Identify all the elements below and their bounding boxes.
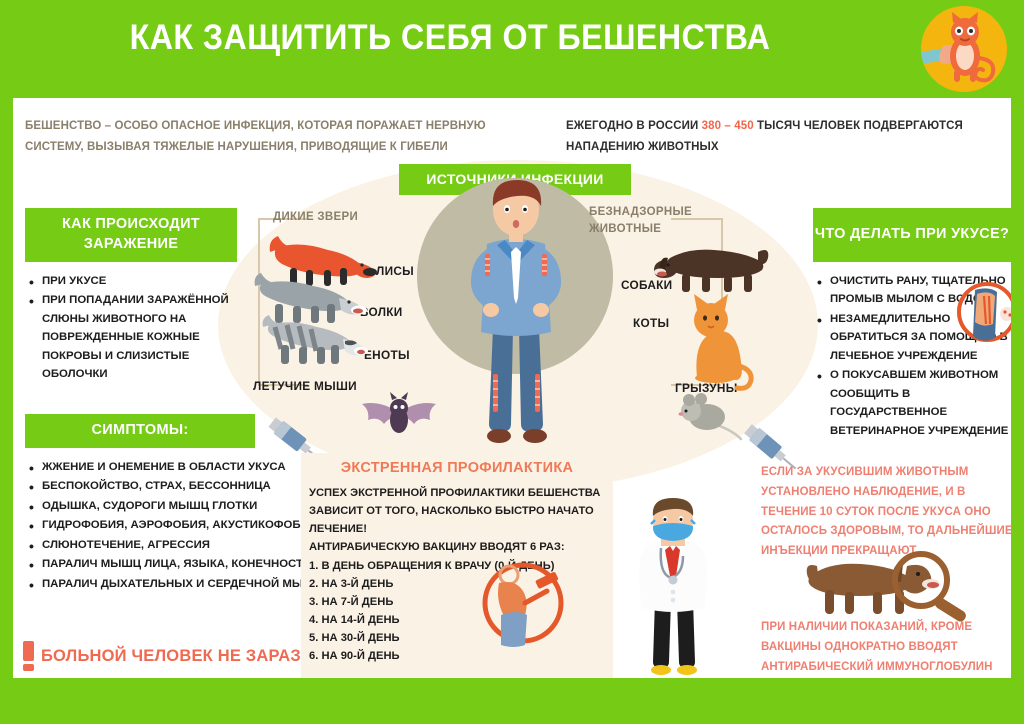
immunoglobulin-note: ПРИ НАЛИЧИИ ПОКАЗАНИЙ, КРОМЕ ВАКЦИНЫ ОДН… bbox=[761, 618, 1011, 677]
group-label-wild: ДИКИЕ ЗВЕРИ bbox=[273, 211, 358, 223]
list-item: БЕСПОКОЙСТВО, СТРАХ, БЕССОННИЦА bbox=[27, 477, 327, 495]
symptoms-title-chip: СИМПТОМЫ: bbox=[25, 414, 255, 448]
list-item: ПРИ ПОПАДАНИИ ЗАРАЖЁННОЙ СЛЮНЫ ЖИВОТНОГО… bbox=[27, 291, 237, 383]
intro-definition: БЕШЕНСТВО – ОСОБО ОПАСНОЕ ИНФЕКЦИЯ, КОТО… bbox=[25, 116, 495, 159]
warning-text: БОЛЬНОЙ ЧЕЛОВЕК НЕ ЗАРАЗЕН bbox=[41, 647, 324, 666]
dog-magnifier-illustration bbox=[803, 548, 983, 620]
group-label-stray: БЕЗНАДЗОРНЫЕ ЖИВОТНЫЕ bbox=[589, 204, 729, 237]
symptoms-list: ЖЖЕНИЕ И ОНЕМЕНИЕ В ОБЛАСТИ УКУСА БЕСПОК… bbox=[27, 458, 327, 594]
exclamation-icon bbox=[23, 641, 34, 671]
raccoon-illustration bbox=[261, 313, 373, 368]
animal-label-cats: КОТЫ bbox=[633, 316, 669, 330]
emergency-title: ЭКСТРЕННАЯ ПРОФИЛАКТИКА bbox=[301, 460, 613, 476]
list-item: СЛЮНОТЕЧЕНИЕ, АГРЕССИЯ bbox=[27, 536, 327, 554]
cat-orange-illustration bbox=[675, 290, 767, 390]
warning-banner: БОЛЬНОЙ ЧЕЛОВЕК НЕ ЗАРАЗЕН bbox=[23, 641, 324, 671]
person-illustration bbox=[443, 178, 589, 466]
poster-header: КАК ЗАЩИТИТЬ СЕБЯ ОТ БЕШЕНСТВА bbox=[0, 0, 1024, 96]
list-item: ОДЫШКА, СУДОРОГИ МЫШЦ ГЛОТКИ bbox=[27, 497, 327, 515]
list-item: ПАРАЛИЧ МЫШЦ ЛИЦА, ЯЗЫКА, КОНЕЧНОСТЕЙ bbox=[27, 555, 327, 573]
how-infection-title-chip: КАК ПРОИСХОДИТ ЗАРАЖЕНИЕ bbox=[25, 208, 237, 262]
doctor-illustration bbox=[621, 500, 725, 678]
stat-text-before: ЕЖЕГОДНО В РОССИИ bbox=[566, 120, 702, 132]
bite-wound-icon bbox=[951, 276, 1011, 348]
how-infection-list: ПРИ УКУСЕ ПРИ ПОПАДАНИИ ЗАРАЖЁННОЙ СЛЮНЫ… bbox=[27, 272, 237, 385]
list-item: ГИДРОФОБИЯ, АЭРОФОБИЯ, АКУСТИКОФОБИЯ bbox=[27, 516, 327, 534]
infographic-poster: КАК ЗАЩИТИТЬ СЕБЯ ОТ БЕШЕНСТВА bbox=[0, 0, 1024, 724]
list-item: О ПОКУСАВШЕМ ЖИВОТНОМ СООБЩИТЬ В ГОСУДАР… bbox=[815, 366, 1011, 440]
injection-icon bbox=[473, 553, 573, 653]
what-to-do-title-chip: ЧТО ДЕЛАТЬ ПРИ УКУСЕ? bbox=[813, 208, 1011, 262]
stat-number: 380 – 450 bbox=[702, 120, 754, 132]
list-item: ПРИ УКУСЕ bbox=[27, 272, 237, 290]
emergency-lead-1: УСПЕХ ЭКСТРЕННОЙ ПРОФИЛАКТИКИ БЕШЕНСТВА … bbox=[309, 484, 609, 538]
intro-statistic: ЕЖЕГОДНО В РОССИИ 380 – 450 ТЫСЯЧ ЧЕЛОВЕ… bbox=[566, 116, 1011, 159]
cat-icon bbox=[921, 6, 1007, 92]
animal-label-bats: ЛЕТУЧИЕ МЫШИ bbox=[253, 379, 357, 393]
observation-note: ЕСЛИ ЗА УКУСИВШИМ ЖИВОТНЫМ УСТАНОВЛЕНО Н… bbox=[761, 463, 1011, 562]
dog-illustration bbox=[658, 238, 770, 294]
bat-illustration bbox=[358, 396, 440, 448]
list-item: ПАРАЛИЧ ДЫХАТЕЛЬНЫХ И СЕРДЕЧНОЙ МЫШЦ bbox=[27, 575, 327, 593]
content-area: БЕШЕНСТВО – ОСОБО ОПАСНОЕ ИНФЕКЦИЯ, КОТО… bbox=[13, 98, 1011, 678]
page-title: КАК ЗАЩИТИТЬ СЕБЯ ОТ БЕШЕНСТВА bbox=[36, 18, 864, 58]
emergency-prophylaxis-panel: ЭКСТРЕННАЯ ПРОФИЛАКТИКА УСПЕХ ЭКСТРЕННОЙ… bbox=[301, 453, 613, 678]
